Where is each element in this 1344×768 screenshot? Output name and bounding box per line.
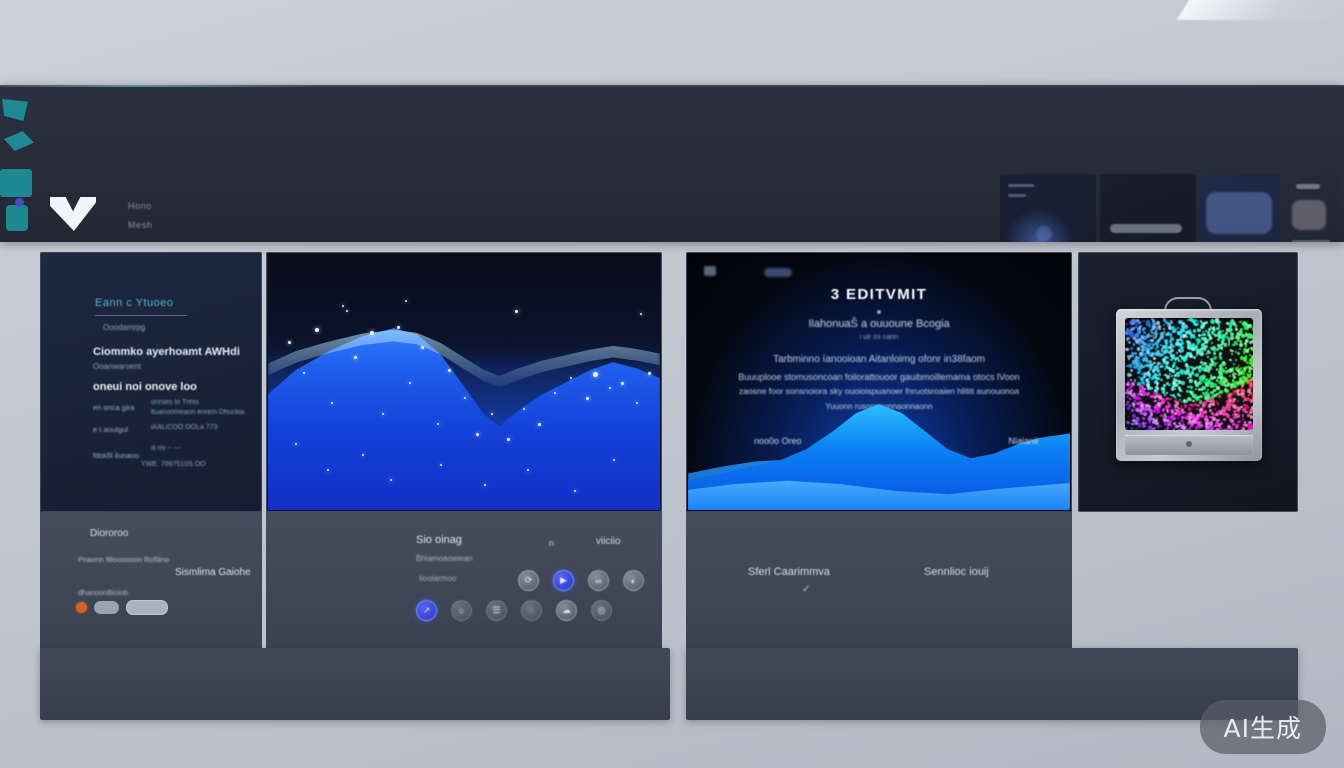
spec-heading-3: oneui noi onove loo (93, 381, 197, 393)
teal-shape-icon (6, 205, 28, 231)
icon-row-primary[interactable]: ⟳ ▶ ∞ ◐ (518, 570, 644, 591)
pixelated-rainbow-screen (1125, 318, 1253, 430)
ai-generated-watermark: AI生成 (1200, 700, 1326, 754)
icon-row-secondary[interactable]: ↗ ○ ☰ ◌ ☁ ◎ (416, 600, 612, 621)
spec-meta-0: ltuanoomeaon enrem Dhuckia (151, 409, 244, 416)
hero-wave-card[interactable]: 3 EDITVMIT IlahonuaŠ a ouuoune Bcogia i … (686, 252, 1072, 652)
header-band: Hono Mesh ivntKeni.inekken (0, 85, 1344, 242)
brand-arrow-logo-icon[interactable] (50, 197, 96, 231)
hero-dot-icon (877, 310, 881, 314)
hero-subtitle: IlahonuaŠ a ouuoune Bcogia (688, 318, 1070, 330)
card-thumb[interactable] (1200, 174, 1280, 242)
spec-chip-group[interactable] (76, 600, 168, 615)
spec-footer-title: Diororoo (90, 528, 128, 539)
spec-footer-right: Sismlima Gaiohe (175, 567, 251, 578)
header-nav[interactable]: Hono Mesh (128, 201, 152, 239)
spec-row-label: e t aoutgul (93, 425, 128, 434)
hero-paragraph-2: zaosne foor sonsnoiora sky ouoioispuanoe… (698, 386, 1060, 396)
nav-item-1[interactable]: Mesh (128, 220, 152, 230)
check-icon: ✓ (802, 584, 810, 595)
teal-decor-cluster (0, 85, 38, 242)
hero-label-left: noo0o Oreo (754, 436, 802, 446)
spec-subtitle: Ooodamrpg (103, 323, 145, 332)
corner-blob-icon (764, 268, 792, 277)
spec-footer-left: Pnaonn ltlioooooon Rofiiino (78, 554, 169, 565)
spec-heading-2: Ciommko ayerhoamt AWHdi (93, 346, 240, 358)
analytics-thumb[interactable] (1000, 174, 1096, 242)
spec-meta-1: ili rrii -- --- (151, 445, 181, 452)
particle-footer-title: Sio oinag (416, 534, 462, 546)
particle-footer-sub: Bhiamoaowwan (416, 554, 472, 563)
hero-visual: 3 EDITVMIT IlahonuaŠ a ouuoune Bcogia i … (686, 252, 1072, 512)
spec-footer-sub: dhanoonBioiob (78, 588, 128, 597)
target-icon[interactable]: ◎ (591, 600, 612, 621)
purple-dot-icon (15, 198, 24, 207)
status-dot-icon (76, 602, 87, 613)
globe-icon[interactable]: ○ (451, 600, 472, 621)
chip-large[interactable] (126, 600, 168, 615)
particle-wave-card[interactable]: Sio oinag Bhiamoaowwan tiooiarmoo n viic… (266, 252, 662, 652)
header-thumbnail-strip (996, 170, 1344, 242)
spec-row-value: YWE. 7097510S.OO (141, 461, 206, 468)
device-thumb[interactable] (1284, 174, 1340, 242)
spec-row-value: iAALiCOO OOLa 773 (151, 424, 218, 431)
spec-row-label: fdokfil ilunaoo (93, 451, 139, 460)
teal-shape-icon (0, 169, 32, 197)
corner-glyph-icon (704, 266, 716, 276)
retro-crt-monitor-icon[interactable] (1116, 309, 1262, 461)
spec-card[interactable]: Eann c Ytuoeo Ooodamrpg Ciommko ayerhoam… (40, 252, 262, 652)
monitor-knob-icon[interactable] (1186, 441, 1192, 447)
particle-card-footer: Sio oinag Bhiamoaowwan tiooiarmoo n viic… (266, 512, 662, 652)
grid-icon[interactable]: ☰ (486, 600, 507, 621)
particle-wave-visual (266, 252, 662, 512)
arrow-icon[interactable]: ↗ (416, 600, 437, 621)
spec-heading-2-sub: Ooanwaroent (93, 362, 141, 371)
volume-icon[interactable]: ◐ (623, 570, 644, 591)
particle-footer-right: viiciio (596, 536, 620, 547)
particle-field (268, 254, 660, 510)
nav-item-0[interactable]: Hono (128, 201, 152, 211)
cloud-icon[interactable]: ☁ (556, 600, 577, 621)
divider (95, 315, 187, 316)
spec-row-label: en onca gira (93, 403, 134, 412)
corner-highlight (1177, 0, 1344, 20)
spiral-icon[interactable]: ◌ (521, 600, 542, 621)
spec-card-footer: Diororoo Pnaonn ltlioooooon Rofiiino Sis… (40, 512, 262, 652)
spec-title: Eann c Ytuoeo (95, 297, 173, 309)
hero-card-footer: Sferl Caarimmva ✓ Sennlioc iouij (686, 512, 1072, 652)
footer-bar-left[interactable] (40, 648, 670, 720)
particle-counter: n (549, 538, 554, 548)
card-grid: Eann c Ytuoeo Ooodamrpg Ciommko ayerhoam… (0, 244, 1344, 724)
teal-shape-icon (4, 131, 34, 151)
monitor-card[interactable] (1078, 252, 1298, 512)
hero-paragraph-0: Tarbminno íanooioan Aitanloimg ofonr in3… (698, 354, 1060, 365)
hero-title: 3 EDITVMIT (688, 286, 1070, 303)
spec-card-body: Eann c Ytuoeo Ooodamrpg Ciommko ayerhoam… (40, 252, 262, 512)
chip-small[interactable] (94, 601, 119, 614)
refresh-icon[interactable]: ⟳ (518, 570, 539, 591)
play-icon[interactable]: ▶ (553, 570, 574, 591)
hero-subtitle-small: i ulr rrii nann (688, 334, 1070, 341)
start-action-button[interactable]: Sferl Caarimmva (748, 566, 830, 578)
link-icon[interactable]: ∞ (588, 570, 609, 591)
hero-paragraph-1: Buuuplooe stomusoncoan foilorattouoor ga… (698, 372, 1060, 382)
list-thumb[interactable] (1100, 174, 1196, 242)
teal-shape-icon (2, 99, 28, 121)
monitor-card-body (1078, 252, 1298, 512)
secondary-action-button[interactable]: Sennlioc iouij (924, 566, 989, 578)
hero-label-right: Niaianii (1008, 436, 1038, 446)
spec-row-value: onroes to Trihis (151, 399, 199, 406)
particle-footer-sub2: tiooiarmoo (419, 574, 456, 583)
